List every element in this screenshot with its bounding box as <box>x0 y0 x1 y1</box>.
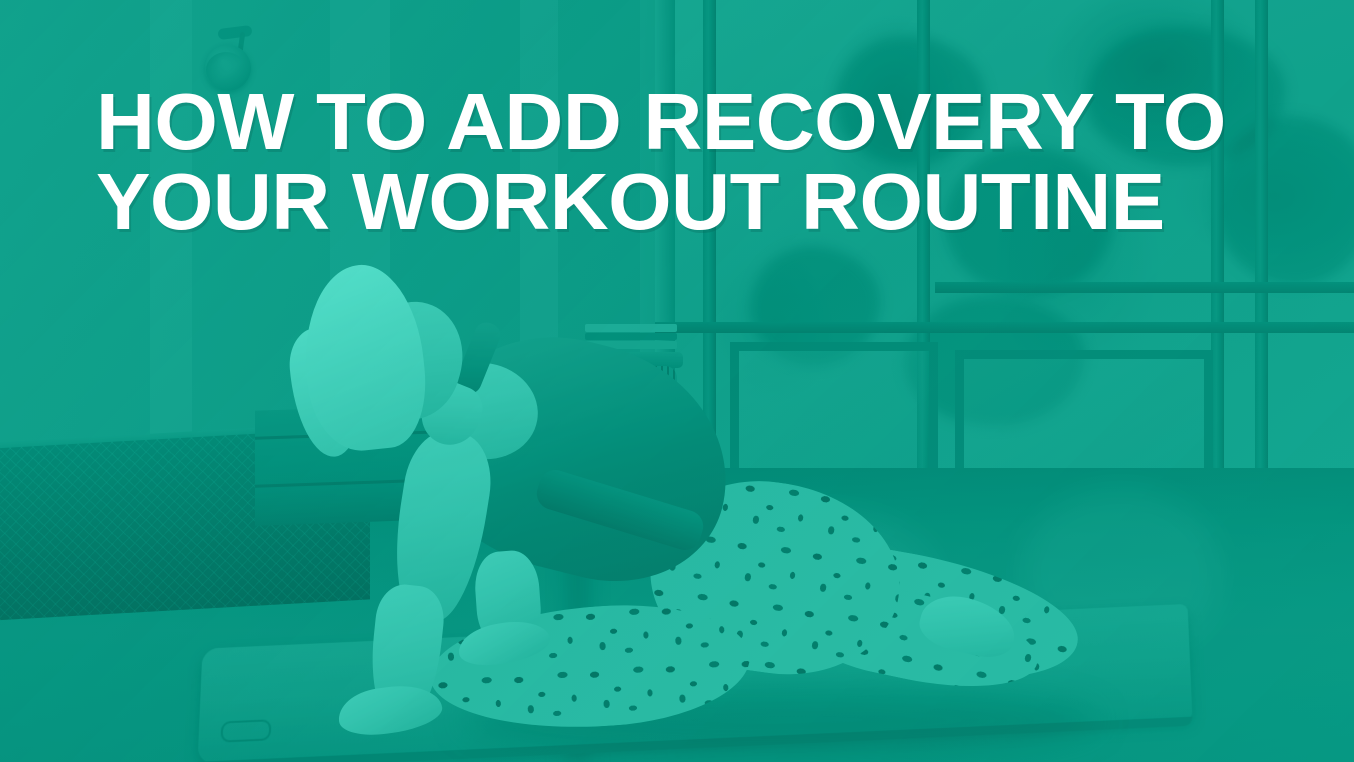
headline-line-1: How to add recovery to <box>96 88 1300 156</box>
headline-line-2: your workout routine <box>96 168 1300 236</box>
banner-headline: How to add recovery to your workout rout… <box>96 88 1276 236</box>
article-hero-banner: How to add recovery to your workout rout… <box>0 0 1354 762</box>
